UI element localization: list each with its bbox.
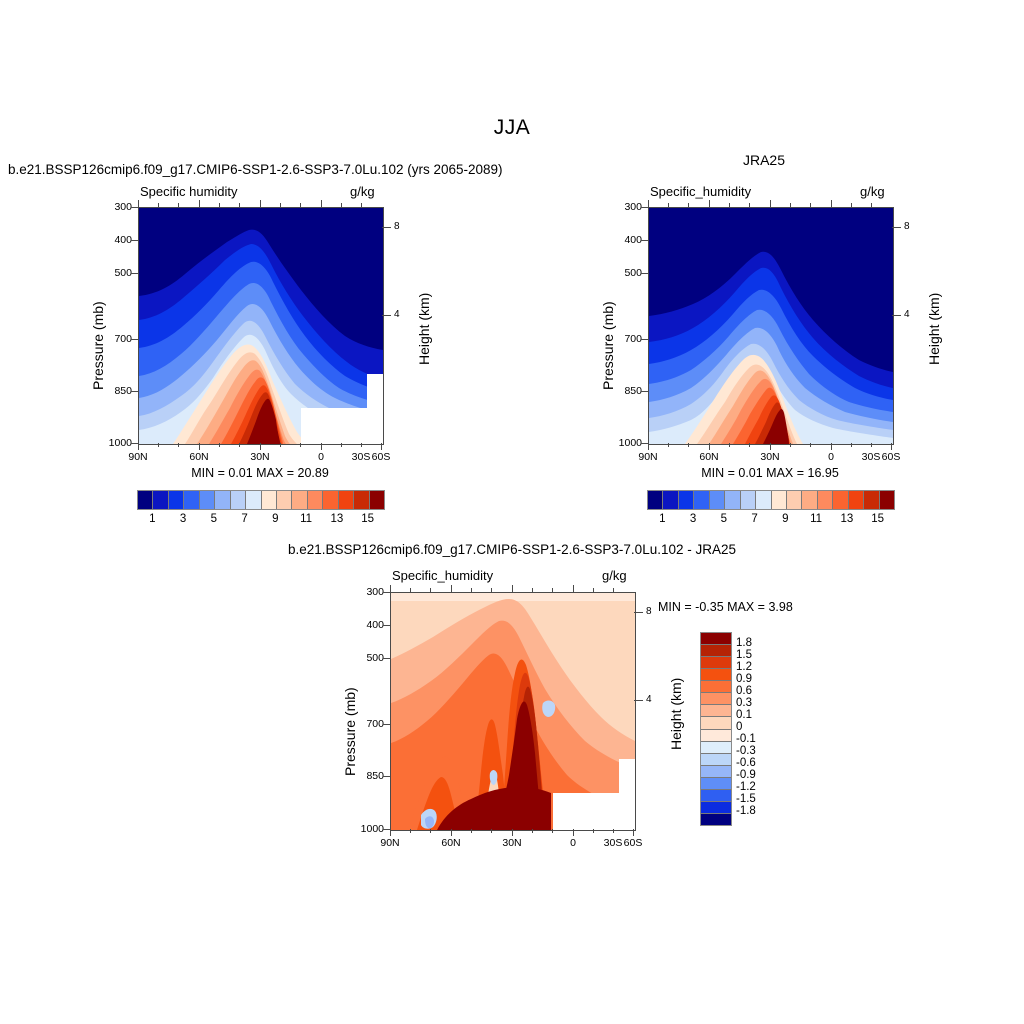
panel-model-ytickmark-700: [131, 339, 139, 340]
panel-obs-toptick: [668, 203, 669, 207]
panel-obs-toptick: [810, 203, 811, 207]
colorbar-cell: [701, 656, 731, 668]
colorbar-cell: [183, 491, 198, 509]
panel-model-toptick: [138, 200, 139, 207]
panel-diff-ytickmark-700: [383, 724, 391, 725]
panel-diff-toptick: [491, 588, 492, 592]
panel-diff-ytick-1000: 1000: [348, 823, 384, 835]
colorbar-cell: [261, 491, 276, 509]
panel-diff-xtick-60N: 60N: [431, 837, 471, 849]
panel-diff-toptick: [613, 588, 614, 592]
panel-diff-toptick: [390, 585, 391, 592]
panel-obs-variable-label: Specific_humidity: [650, 184, 751, 199]
panel-obs-ytickmark-700: [641, 339, 649, 340]
colorbar-cell: [230, 491, 245, 509]
colorbar-cell: [724, 491, 739, 509]
colorbar-cell: [701, 813, 731, 825]
colorbar-cell: [648, 491, 662, 509]
panel-obs-ytickmark-500: [641, 273, 649, 274]
panel-diff-toptick: [410, 588, 411, 592]
panel-diff-htickmark-8: [634, 612, 643, 613]
panel-obs-ytickmark-300: [641, 207, 649, 208]
panel-model-unit-label: g/kg: [350, 184, 375, 199]
panel-diff-xtickmark: [471, 829, 472, 833]
panel-diff-minmax: MIN = -0.35 MAX = 3.98: [658, 600, 793, 614]
panel-obs-xtick-60N: 60N: [689, 451, 729, 463]
colorbar-tick-label: 0.1: [736, 709, 752, 721]
panel-obs-toptick: [770, 200, 771, 207]
panel-model-ytickmark-500: [131, 273, 139, 274]
panel-diff-toptick: [532, 588, 533, 592]
panel-diff-variable-label: Specific_humidity: [392, 568, 493, 583]
panel-obs-xtickmark: [891, 443, 892, 450]
panel-model-toptick: [178, 203, 179, 207]
panel-model-toptick: [239, 203, 240, 207]
panel-diff-toptick: [471, 588, 472, 592]
panel-diff-toptick: [573, 585, 574, 592]
colorbar-tick-label: 15: [348, 513, 388, 525]
colorbar-tick-label: -1.8: [736, 805, 756, 817]
colorbar-tick-label: 1.5: [736, 649, 752, 661]
panel-model-toptick: [280, 203, 281, 207]
panel-obs-ytickmark-400: [641, 240, 649, 241]
panel-model-xtickmark: [199, 443, 200, 450]
panel-model-xtickmark: [158, 443, 159, 447]
colorbar-cell: [701, 668, 731, 680]
panel-model-ylabel: Pressure (mb): [90, 301, 106, 390]
panel-model-toptick: [341, 203, 342, 207]
panel-model-xtickmark: [280, 443, 281, 447]
panel-model-rlabel: Height (km): [416, 293, 432, 365]
panel-diff-xtickmark: [430, 829, 431, 833]
panel-obs-htickmark-8: [892, 227, 901, 228]
colorbar-cell: [832, 491, 847, 509]
panel-model-toptick: [321, 200, 322, 207]
panel-model-ytick-1000: 1000: [96, 437, 132, 449]
panel-model-ytickmark-850: [131, 391, 139, 392]
colorbar-cell: [662, 491, 677, 509]
panel-obs-plot-area: [648, 207, 894, 445]
panel-diff-colorbar: [700, 632, 732, 826]
panel-model-toptick: [260, 200, 261, 207]
panel-obs-xtickmark: [831, 443, 832, 450]
colorbar-cell: [214, 491, 229, 509]
colorbar-tick-label: -0.6: [736, 757, 756, 769]
panel-diff-htick-8: 8: [646, 606, 652, 617]
panel-diff-ylabel: Pressure (mb): [342, 687, 358, 776]
colorbar-cell: [701, 753, 731, 765]
panel-obs-unit-label: g/kg: [860, 184, 885, 199]
panel-diff-toptick: [552, 588, 553, 592]
colorbar-cell: [291, 491, 306, 509]
panel-model-minmax: MIN = 0.01 MAX = 20.89: [160, 466, 360, 480]
colorbar-cell: [817, 491, 832, 509]
panel-diff-toptick: [451, 585, 452, 592]
colorbar-cell: [740, 491, 755, 509]
colorbar-cell: [848, 491, 863, 509]
panel-diff-case-title: b.e21.BSSP126cmip6.f09_g17.CMIP6-SSP1-2.…: [200, 542, 824, 557]
panel-model-xtickmark: [341, 443, 342, 447]
colorbar-cell: [322, 491, 337, 509]
panel-model-htickmark-4: [382, 315, 391, 316]
colorbar-tick-label: 0: [736, 721, 742, 733]
panel-diff-ytick-500: 500: [352, 652, 384, 664]
panel-diff-ytickmark-400: [383, 625, 391, 626]
colorbar-cell: [276, 491, 291, 509]
panel-obs-toptick: [729, 203, 730, 207]
panel-model-xtickmark: [260, 443, 261, 450]
colorbar-cell: [786, 491, 801, 509]
panel-obs-xtick-90N: 90N: [628, 451, 668, 463]
colorbar-cell: [863, 491, 878, 509]
panel-model-xtickmark: [361, 443, 362, 447]
panel-obs-htickmark-4: [892, 315, 901, 316]
colorbar-cell: [245, 491, 260, 509]
panel-model-ytickmark-300: [131, 207, 139, 208]
panel-diff-toptick: [430, 588, 431, 592]
colorbar-cell: [701, 704, 731, 716]
panel-model-ytick-400: 400: [100, 234, 132, 246]
panel-diff-toptick: [512, 585, 513, 592]
colorbar-cell: [338, 491, 353, 509]
panel-model-xtick-30N: 30N: [240, 451, 280, 463]
panel-diff-xtickmark: [613, 829, 614, 833]
panel-obs-toptick: [871, 203, 872, 207]
panel-obs-minmax: MIN = 0.01 MAX = 16.95: [670, 466, 870, 480]
panel-obs-contour-field: [649, 208, 893, 444]
panel-diff-xtickmark: [573, 829, 574, 836]
colorbar-cell: [353, 491, 368, 509]
panel-obs-xtickmark: [851, 443, 852, 447]
colorbar-tick-label: 0.9: [736, 673, 752, 685]
colorbar-cell: [701, 789, 731, 801]
panel-obs-htick-4: 4: [904, 309, 910, 320]
panel-model-plot-area: [138, 207, 384, 445]
panel-diff-xtickmark: [552, 829, 553, 833]
colorbar-cell: [701, 741, 731, 753]
panel-model-xtickmark: [239, 443, 240, 447]
colorbar-tick-label: 1.8: [736, 637, 752, 649]
panel-diff-xtick-30N: 30N: [492, 837, 532, 849]
colorbar-cell: [701, 765, 731, 777]
colorbar-cell: [693, 491, 708, 509]
panel-model-htick-8: 8: [394, 221, 400, 232]
panel-model-variable-label: Specific humidity: [140, 184, 238, 199]
panel-diff-xtickmark: [390, 829, 391, 836]
panel-model-xtickmark: [138, 443, 139, 450]
panel-diff-htickmark-4: [634, 700, 643, 701]
colorbar-cell: [307, 491, 322, 509]
season-title: JJA: [0, 116, 1024, 140]
colorbar-cell: [755, 491, 770, 509]
panel-model-ytick-500: 500: [100, 267, 132, 279]
panel-obs-xtick-0: 0: [811, 451, 851, 463]
panel-obs-ytick-400: 400: [610, 234, 642, 246]
colorbar-cell: [701, 680, 731, 692]
panel-obs-xtickmark: [871, 443, 872, 447]
panel-obs-ytick-500: 500: [610, 267, 642, 279]
panel-diff-ytick-300: 300: [352, 586, 384, 598]
panel-model-ytickmark-400: [131, 240, 139, 241]
panel-obs-case-title: JRA25: [656, 152, 872, 168]
panel-obs-xtickmark: [709, 443, 710, 450]
panel-diff-xtick-0: 0: [553, 837, 593, 849]
panel-model-contour-field: [139, 208, 383, 444]
colorbar-tick-label: -0.3: [736, 745, 756, 757]
panel-model-xtick-60N: 60N: [179, 451, 219, 463]
colorbar-tick-label: 0.6: [736, 685, 752, 697]
panel-obs-xtick-30N: 30N: [750, 451, 790, 463]
panel-obs-xtickmark: [770, 443, 771, 450]
colorbar-cell: [701, 729, 731, 741]
panel-diff-ytick-400: 400: [352, 619, 384, 631]
panel-obs-xtickmark: [648, 443, 649, 450]
colorbar-tick-label: -1.2: [736, 781, 756, 793]
panel-obs-colorbar: [647, 490, 895, 510]
colorbar-cell: [701, 716, 731, 728]
colorbar-cell: [709, 491, 724, 509]
panel-obs-xtickmark: [810, 443, 811, 447]
panel-model-case-title: b.e21.BSSP126cmip6.f09_g17.CMIP6-SSP1-2.…: [8, 162, 503, 177]
panel-obs-ytick-1000: 1000: [606, 437, 642, 449]
colorbar-cell: [168, 491, 183, 509]
panel-model-xtick-0: 0: [301, 451, 341, 463]
panel-obs-xtickmark: [668, 443, 669, 447]
colorbar-cell: [701, 644, 731, 656]
colorbar-cell: [701, 633, 731, 644]
panel-obs-toptick: [851, 203, 852, 207]
panel-obs-toptick: [648, 200, 649, 207]
panel-model-toptick: [361, 203, 362, 207]
colorbar-cell: [369, 491, 384, 509]
panel-diff-ytickmark-850: [383, 776, 391, 777]
colorbar-tick-label: 0.3: [736, 697, 752, 709]
panel-obs-xtickmark: [790, 443, 791, 447]
colorbar-tick-label: -0.9: [736, 769, 756, 781]
panel-obs-toptick: [749, 203, 750, 207]
colorbar-cell: [701, 801, 731, 813]
panel-model-colorbar: [137, 490, 385, 510]
colorbar-cell: [771, 491, 786, 509]
panel-diff-xtickmark: [410, 829, 411, 833]
colorbar-cell: [701, 692, 731, 704]
panel-obs-htick-8: 8: [904, 221, 910, 232]
colorbar-tick-label: -0.1: [736, 733, 756, 745]
colorbar-tick-label: 1.2: [736, 661, 752, 673]
panel-diff-unit-label: g/kg: [602, 568, 627, 583]
panel-model-toptick: [300, 203, 301, 207]
panel-model-xtickmark: [321, 443, 322, 450]
panel-diff-xtickmark: [593, 829, 594, 833]
panel-obs-xtickmark: [688, 443, 689, 447]
panel-model-ytick-300: 300: [100, 201, 132, 213]
panel-obs-ytick-300: 300: [610, 201, 642, 213]
panel-model-xtickmark: [178, 443, 179, 447]
panel-obs-toptick: [790, 203, 791, 207]
colorbar-cell: [199, 491, 214, 509]
panel-model-xtickmark: [300, 443, 301, 447]
panel-model-xtick-90N: 90N: [118, 451, 158, 463]
panel-diff-htick-4: 4: [646, 694, 652, 705]
panel-obs-rlabel: Height (km): [926, 293, 942, 365]
panel-obs-xtickmark: [729, 443, 730, 447]
colorbar-cell: [701, 777, 731, 789]
panel-diff-xtickmark: [633, 829, 634, 836]
colorbar-cell: [152, 491, 167, 509]
colorbar-tick-label: 15: [858, 513, 898, 525]
panel-diff-xtickmark: [451, 829, 452, 836]
panel-obs-ytickmark-850: [641, 391, 649, 392]
colorbar-cell: [801, 491, 816, 509]
panel-obs-xtickmark: [749, 443, 750, 447]
panel-diff-plot-area: [390, 592, 636, 831]
panel-obs-ylabel: Pressure (mb): [600, 301, 616, 390]
panel-obs-toptick: [688, 203, 689, 207]
panel-model-xtick-60S: 60S: [361, 451, 401, 463]
panel-model-xtickmark: [219, 443, 220, 447]
colorbar-tick-label: -1.5: [736, 793, 756, 805]
panel-model-htick-4: 4: [394, 309, 400, 320]
panel-diff-toptick: [593, 588, 594, 592]
panel-diff-xtickmark: [512, 829, 513, 836]
panel-diff-rlabel: Height (km): [668, 678, 684, 750]
panel-diff-ytickmark-300: [383, 592, 391, 593]
panel-model-toptick: [199, 200, 200, 207]
panel-obs-toptick: [709, 200, 710, 207]
colorbar-cell: [138, 491, 152, 509]
panel-diff-xtick-90N: 90N: [370, 837, 410, 849]
colorbar-cell: [678, 491, 693, 509]
panel-model-toptick: [219, 203, 220, 207]
panel-diff-xtickmark: [532, 829, 533, 833]
panel-obs-toptick: [831, 200, 832, 207]
panel-model-htickmark-8: [382, 227, 391, 228]
panel-model-xtickmark: [381, 443, 382, 450]
panel-obs-xtick-60S: 60S: [871, 451, 911, 463]
panel-diff-ytickmark-500: [383, 658, 391, 659]
panel-diff-contour-field: [391, 593, 635, 830]
panel-diff-xtickmark: [491, 829, 492, 833]
colorbar-cell: [879, 491, 894, 509]
panel-diff-xtick-60S: 60S: [613, 837, 653, 849]
panel-model-toptick: [158, 203, 159, 207]
